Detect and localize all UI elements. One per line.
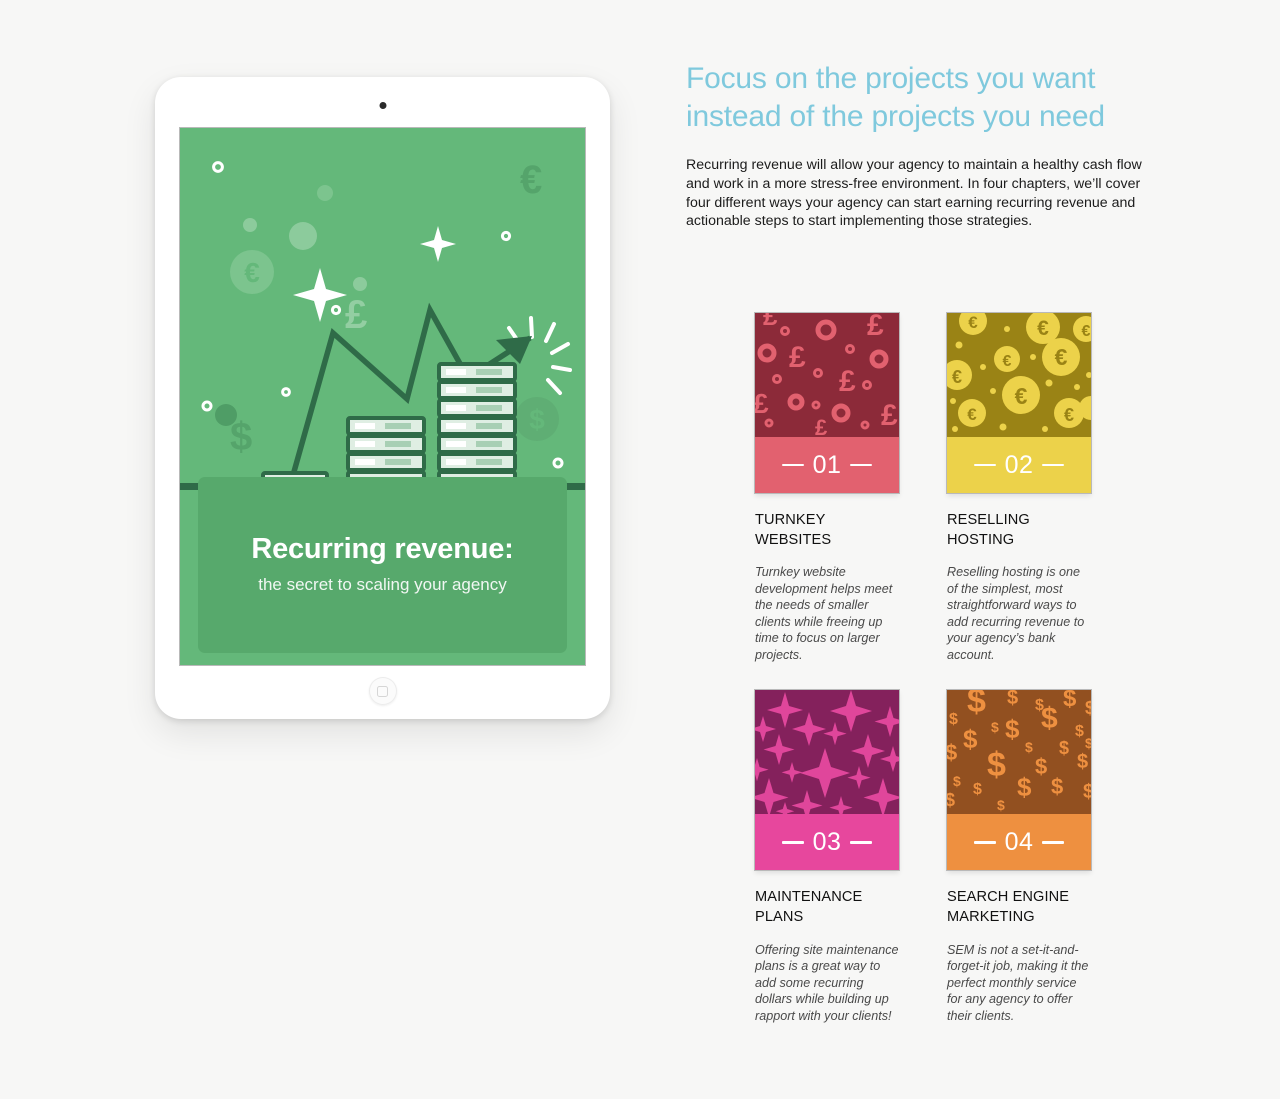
svg-text:$: $ — [987, 746, 1006, 784]
svg-text:€: € — [1037, 317, 1049, 340]
svg-text:$: $ — [947, 740, 957, 765]
svg-text:$: $ — [529, 404, 545, 435]
svg-text:€: € — [967, 405, 977, 424]
svg-text:$: $ — [947, 790, 955, 810]
intro-paragraph: Recurring revenue will allow your agency… — [686, 156, 1156, 232]
svg-text:€: € — [952, 367, 962, 387]
chapter-description: SEM is not a set-it-and-forget-it job, m… — [947, 942, 1091, 1024]
svg-text:€: € — [244, 257, 260, 288]
svg-text:$: $ — [973, 781, 982, 798]
home-button-square-icon — [377, 686, 388, 697]
svg-text:£: £ — [815, 415, 828, 437]
ebook-cover-screen: € $ € £ $ — [180, 128, 585, 665]
cover-title-plate: Recurring revenue: the secret to scaling… — [198, 477, 567, 653]
chapter-thumbnail-01[interactable]: £ £ £ £ £ £ £ — [755, 313, 899, 493]
chapter-title: RESELLING HOSTING — [947, 511, 1091, 550]
page-title: Focus on the projects you want instead o… — [686, 60, 1166, 137]
svg-text:£: £ — [755, 388, 769, 419]
svg-text:£: £ — [839, 365, 856, 398]
page-root: € $ € £ $ — [0, 0, 1280, 1099]
svg-text:£: £ — [345, 293, 367, 337]
svg-text:$: $ — [1085, 735, 1091, 751]
chapter-number: 01 — [813, 453, 842, 478]
svg-text:$: $ — [953, 773, 961, 789]
svg-text:$: $ — [949, 711, 958, 728]
chapter-thumbnail-02[interactable]: € € € € € € € € € 02 — [947, 313, 1091, 493]
chapter-description: Reselling hosting is one of the simplest… — [947, 564, 1091, 663]
intro-section: Focus on the projects you want instead o… — [686, 60, 1166, 231]
svg-text:€: € — [520, 158, 542, 202]
svg-text:£: £ — [763, 313, 778, 331]
svg-text:$: $ — [1075, 723, 1084, 740]
svg-text:$: $ — [1041, 702, 1058, 735]
svg-text:£: £ — [881, 399, 898, 432]
cover-title: Recurring revenue: — [251, 534, 513, 566]
chapter-description: Turnkey website development helps meet t… — [755, 564, 899, 663]
chapter-title: MAINTENANCE PLANS — [755, 888, 899, 927]
svg-text:€: € — [968, 313, 978, 332]
pound-symbols-pattern: £ £ £ £ £ £ £ — [755, 313, 899, 437]
svg-text:$: $ — [1025, 739, 1033, 755]
svg-text:$: $ — [967, 690, 986, 720]
svg-text:$: $ — [1051, 774, 1063, 799]
svg-text:$: $ — [1017, 772, 1032, 802]
chapter-card-03[interactable]: 03 MAINTENANCE PLANS Offering site maint… — [755, 690, 899, 1024]
chapter-thumbnail-03[interactable]: 03 — [755, 690, 899, 870]
dollar-signs-pattern: $ $ $ $ $ $ $ $ $ $ $ $ $ — [947, 690, 1091, 814]
svg-text:$: $ — [1059, 738, 1069, 758]
chapter-card-02[interactable]: € € € € € € € € € 02 — [947, 313, 1091, 663]
dash-left-icon — [782, 841, 804, 844]
tablet-mockup: € $ € £ $ — [155, 77, 610, 719]
svg-text:$: $ — [1007, 690, 1018, 709]
svg-text:$: $ — [1005, 714, 1020, 744]
chapter-number: 02 — [1005, 453, 1034, 478]
chapter-description: Offering site maintenance plans is a gre… — [755, 942, 899, 1024]
dash-left-icon — [974, 464, 996, 467]
chapter-title: SEARCH ENGINE MARKETING — [947, 888, 1091, 927]
dash-left-icon — [782, 464, 804, 467]
svg-text:$: $ — [1063, 690, 1077, 712]
svg-text:€: € — [1015, 383, 1028, 409]
svg-text:€: € — [1055, 344, 1068, 370]
svg-text:$: $ — [991, 719, 999, 735]
svg-text:$: $ — [1035, 754, 1047, 779]
svg-text:$: $ — [1083, 781, 1091, 803]
dash-right-icon — [1042, 841, 1064, 844]
chapter-grid: £ £ £ £ £ £ £ — [755, 313, 1095, 1024]
home-button[interactable] — [369, 677, 397, 705]
chapter-number-bar-01: 01 — [755, 437, 899, 493]
tablet-body: € $ € £ $ — [155, 77, 610, 719]
svg-text:£: £ — [867, 313, 884, 342]
chapter-number-bar-04: 04 — [947, 814, 1091, 870]
svg-text:$: $ — [1077, 751, 1088, 773]
dash-right-icon — [1042, 464, 1064, 467]
chapter-title: TURNKEY WEBSITES — [755, 511, 899, 550]
chapter-number: 03 — [813, 830, 842, 855]
svg-text:€: € — [1003, 353, 1012, 370]
chapter-number-bar-03: 03 — [755, 814, 899, 870]
chapter-number-bar-02: 02 — [947, 437, 1091, 493]
chapter-card-01[interactable]: £ £ £ £ £ £ £ — [755, 313, 899, 663]
chapter-number: 04 — [1005, 830, 1034, 855]
svg-text:£: £ — [789, 341, 806, 374]
svg-text:€: € — [1082, 323, 1091, 340]
camera-dot-icon — [379, 102, 386, 109]
dash-left-icon — [974, 841, 996, 844]
euro-coins-pattern: € € € € € € € € € — [947, 313, 1091, 437]
chapter-card-04[interactable]: $ $ $ $ $ $ $ $ $ $ $ $ $ — [947, 690, 1091, 1024]
dash-right-icon — [850, 464, 872, 467]
svg-text:$: $ — [997, 797, 1005, 813]
svg-text:€: € — [1064, 405, 1074, 425]
svg-text:$: $ — [963, 724, 978, 754]
cover-subtitle: the secret to scaling your agency — [258, 575, 507, 595]
svg-text:$: $ — [1085, 698, 1091, 718]
chapter-thumbnail-04[interactable]: $ $ $ $ $ $ $ $ $ $ $ $ $ — [947, 690, 1091, 870]
dash-right-icon — [850, 841, 872, 844]
sparkles-pattern — [755, 690, 899, 814]
